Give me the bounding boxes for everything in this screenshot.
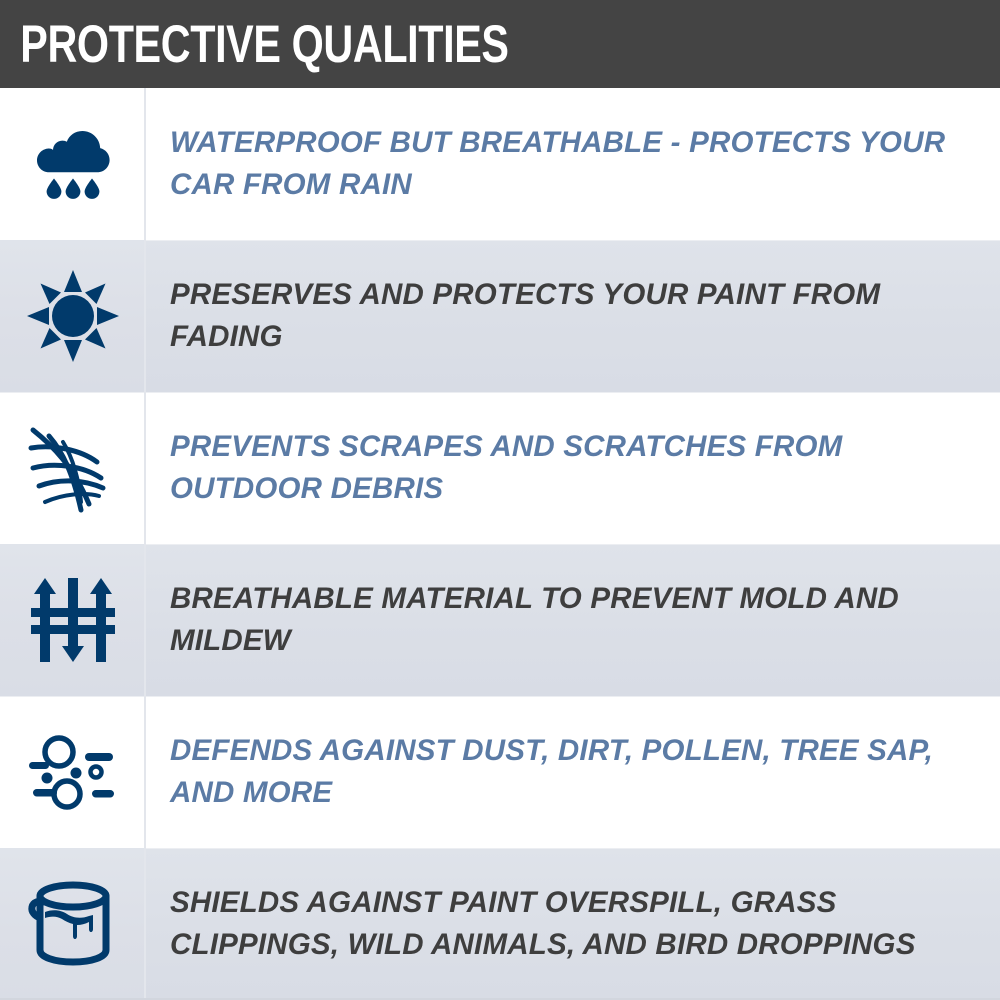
text-cell: BREATHABLE MATERIAL TO PREVENT MOLD AND … — [146, 544, 1000, 696]
icon-cell — [0, 544, 146, 696]
sun-icon — [23, 266, 123, 366]
feature-row-paint-shield: SHIELDS AGAINST PAINT OVERSPILL, GRASS C… — [0, 848, 1000, 1000]
icon-cell — [0, 240, 146, 392]
feature-label: SHIELDS AGAINST PAINT OVERSPILL, GRASS C… — [170, 882, 972, 966]
text-cell: PREVENTS SCRAPES AND SCRATCHES FROM OUTD… — [146, 392, 1000, 544]
feature-list: WATERPROOF BUT BREATHABLE - PROTECTS YOU… — [0, 88, 1000, 1000]
feature-row-breathable: BREATHABLE MATERIAL TO PREVENT MOLD AND … — [0, 544, 1000, 696]
feature-label: BREATHABLE MATERIAL TO PREVENT MOLD AND … — [170, 578, 972, 662]
header-bar: PROTECTIVE QUALITIES — [0, 0, 1000, 88]
text-cell: WATERPROOF BUT BREATHABLE - PROTECTS YOU… — [146, 88, 1000, 240]
feature-row-dust-defense: DEFENDS AGAINST DUST, DIRT, POLLEN, TREE… — [0, 696, 1000, 848]
page-title: PROTECTIVE QUALITIES — [0, 18, 509, 71]
feature-label: WATERPROOF BUT BREATHABLE - PROTECTS YOU… — [170, 122, 972, 206]
icon-cell — [0, 88, 146, 240]
scratch-mesh-icon — [23, 418, 123, 518]
feature-label: PREVENTS SCRAPES AND SCRATCHES FROM OUTD… — [170, 426, 972, 510]
protective-qualities-infographic: PROTECTIVE QUALITIES WATERPROOF BUT BREA… — [0, 0, 1000, 1000]
feature-label: DEFENDS AGAINST DUST, DIRT, POLLEN, TREE… — [170, 730, 972, 814]
text-cell: DEFENDS AGAINST DUST, DIRT, POLLEN, TREE… — [146, 696, 1000, 848]
icon-cell — [0, 696, 146, 848]
dust-particles-icon — [23, 722, 123, 822]
feature-row-uv-protection: PRESERVES AND PROTECTS YOUR PAINT FROM F… — [0, 240, 1000, 392]
paint-can-icon — [23, 874, 123, 974]
text-cell: PRESERVES AND PROTECTS YOUR PAINT FROM F… — [146, 240, 1000, 392]
icon-cell — [0, 848, 146, 1000]
feature-label: PRESERVES AND PROTECTS YOUR PAINT FROM F… — [170, 274, 972, 358]
icon-cell — [0, 392, 146, 544]
rain-cloud-icon — [23, 114, 123, 214]
airflow-breathable-icon — [23, 570, 123, 670]
feature-row-scratch-resistance: PREVENTS SCRAPES AND SCRATCHES FROM OUTD… — [0, 392, 1000, 544]
feature-row-waterproof: WATERPROOF BUT BREATHABLE - PROTECTS YOU… — [0, 88, 1000, 240]
text-cell: SHIELDS AGAINST PAINT OVERSPILL, GRASS C… — [146, 848, 1000, 1000]
